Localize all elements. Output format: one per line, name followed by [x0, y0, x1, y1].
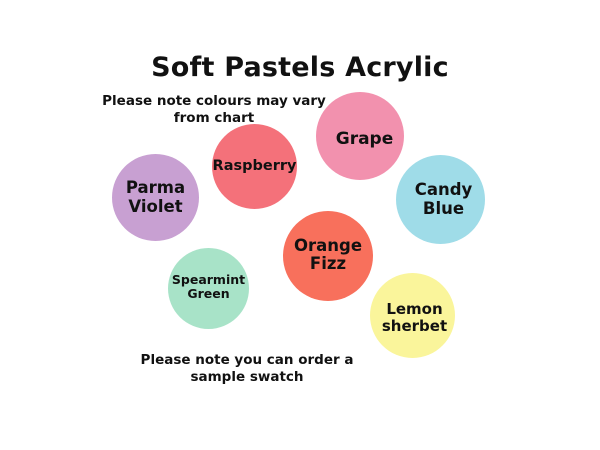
note-colours-may-vary: Please note colours may vary from chart: [88, 93, 340, 128]
page-title: Soft Pastels Acrylic: [0, 52, 600, 83]
colour-swatch-label: Raspberry: [211, 158, 299, 174]
colour-swatch-raspberry[interactable]: Raspberry: [212, 124, 297, 209]
colour-swatch-label: Spearmint Green: [170, 273, 247, 301]
colour-swatch-label: Lemon sherbet: [380, 301, 449, 335]
note-sample-swatch: Please note you can order a sample swatc…: [102, 352, 392, 387]
colour-swatch-parma-violet[interactable]: Parma Violet: [112, 154, 199, 241]
colour-swatch-spearmint-green[interactable]: Spearmint Green: [168, 248, 249, 329]
colour-chart-canvas: Soft Pastels Acrylic Please note colours…: [0, 0, 600, 450]
colour-swatch-grape[interactable]: Grape: [316, 92, 404, 180]
colour-swatch-candy-blue[interactable]: Candy Blue: [396, 155, 485, 244]
colour-swatch-orange-fizz[interactable]: Orange Fizz: [283, 211, 373, 301]
colour-swatch-label: Grape: [334, 130, 396, 149]
colour-swatch-label: Candy Blue: [413, 181, 475, 218]
colour-swatch-label: Orange Fizz: [292, 237, 364, 274]
colour-swatch-label: Parma Violet: [124, 179, 187, 216]
colour-swatch-lemon-sherbet[interactable]: Lemon sherbet: [370, 273, 455, 358]
